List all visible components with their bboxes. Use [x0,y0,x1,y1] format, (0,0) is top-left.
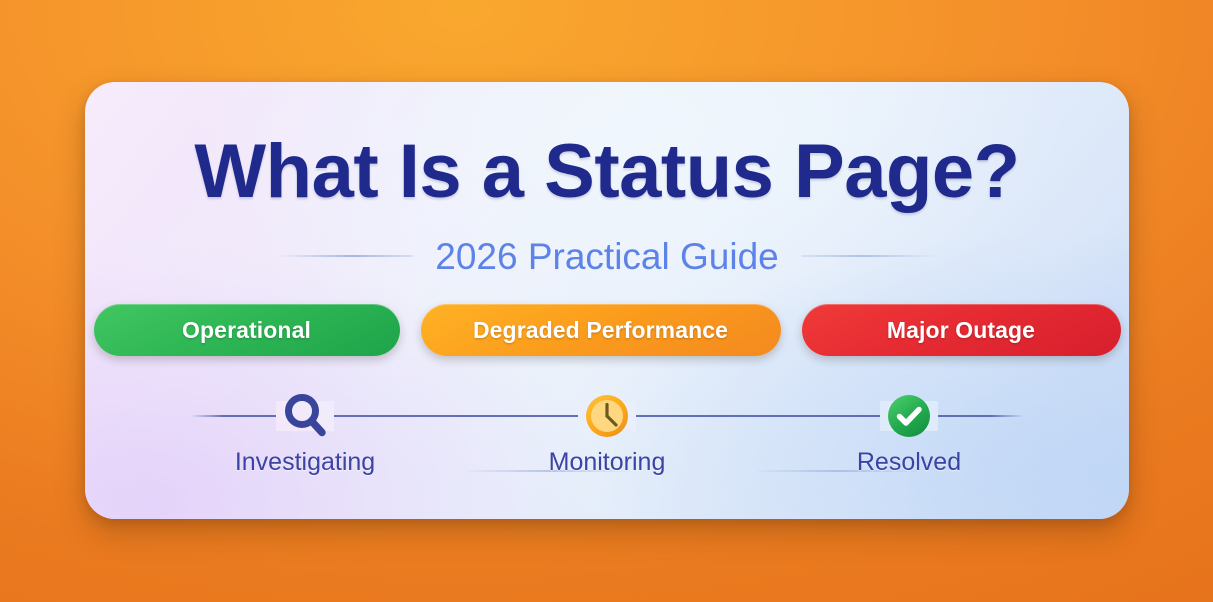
subtitle-row: 2026 Practical Guide [85,234,1129,278]
status-pill-group: Operational Degraded Performance Major O… [85,304,1129,356]
timeline-label-resolved: Resolved [857,448,961,477]
timeline-label-investigating: Investigating [235,448,375,477]
clock-icon [579,388,635,444]
page-title: What Is a Status Page? [85,134,1129,210]
timeline-label-monitoring: Monitoring [549,448,666,477]
incident-timeline: Investigating [190,382,1024,482]
status-pill-operational[interactable]: Operational [94,304,400,356]
subtitle-divider-left [277,255,413,257]
background: What Is a Status Page? 2026 Practical Gu… [0,0,1213,602]
timeline-stage-investigating[interactable]: Investigating [190,382,420,477]
subtitle: 2026 Practical Guide [435,238,778,275]
timeline-stage-resolved[interactable]: Resolved [794,382,1024,477]
check-circle-icon [881,388,937,444]
timeline-stage-monitoring[interactable]: Monitoring [492,382,722,477]
status-pill-degraded-performance[interactable]: Degraded Performance [421,304,781,356]
status-pill-major-outage[interactable]: Major Outage [802,304,1121,356]
magnifying-glass-icon [277,388,333,444]
subtitle-divider-right [801,255,937,257]
infographic-card: What Is a Status Page? 2026 Practical Gu… [85,82,1129,519]
